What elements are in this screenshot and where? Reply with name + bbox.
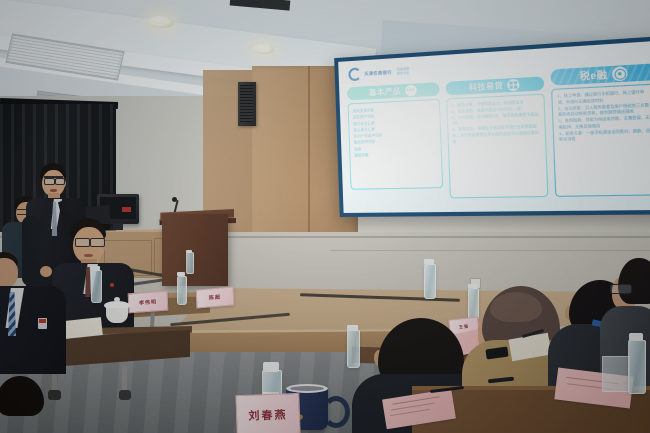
table-caster-wheel [48,390,61,400]
projection-screen-surface: 天津农商银行 科技金融 服务方案 基本产品 ••• [338,40,650,213]
conference-room-photo: 天津农商银行 科技金融 服务方案 基本产品 ••• [0,0,650,433]
eyeglasses-icon [75,238,90,247]
bottle-cap [91,266,100,271]
water-bottle [186,252,194,274]
monitor-stand [113,223,123,230]
eyeglasses-icon [610,284,632,294]
card-title: 科技易贷 [469,80,504,93]
card-header-basic-products: 基本产品 ••• [347,82,439,100]
namecard-text: 刘春燕 [248,406,288,423]
water-bottle [91,270,102,303]
card-body-basic-products: 流动资金贷款 固定资产贷款 银行承兑汇票 商业承兑汇票 知识产权质押贷款 股权质… [348,99,443,190]
bottle-cap [629,333,643,341]
wood-panel-seam [308,66,310,251]
teacup [106,308,128,323]
projection-screen: 天津农商银行 科技金融 服务方案 基本产品 ••• [334,35,650,217]
dots-glyph: ••• [406,87,414,94]
card-header-tax-e-financing: 税e融 [551,63,650,85]
bank-logo: 天津农商银行 科技金融 服务方案 [348,64,409,81]
lapel-pin [110,283,114,287]
wall-trim-line [330,250,650,251]
eyeglasses-icon [55,178,65,185]
namecard-foreground: 刘春燕 [235,393,300,433]
bank-logo-subtitle: 科技金融 服务方案 [397,67,410,75]
card-header-tech-easy-loan: 科技易贷 [445,76,544,95]
water-bottle [347,330,360,368]
hair-highlight [490,292,542,322]
slide-card-tax-e-financing: 税e融 1、线上申请：通过我行手机银行、网上银行申请，申请时无需纸质材料 2、自… [551,63,650,197]
hand [40,266,52,277]
grid-glyph [510,81,518,89]
dots-icon: ••• [405,85,417,97]
bank-logo-icon [348,67,361,81]
slide-cards: 基本产品 ••• 流动资金贷款 固定资产贷款 银行承兑汇票 商业承兑汇票 知识产… [347,70,650,206]
target-glyph [614,68,626,80]
water-bottle [424,264,436,299]
bottle-cap [177,272,185,276]
target-icon [612,66,628,81]
monitor-indicator [122,207,131,212]
water-bottle [468,288,479,320]
eyeglasses-icon [44,178,55,185]
id-badge-stripe [39,319,46,323]
list-item: 银保贷融 [354,150,436,159]
namecard-text: 李伟明 [139,298,157,306]
slide-card-tech-easy-loan: 科技易贷 1、服务对象：专精特新企业、科创型企业 2、授信金额：最高不超过100… [445,76,549,198]
bank-logo-name: 天津农商银行 [364,69,392,77]
mouth [84,254,93,257]
bottle-cap [186,250,192,253]
water-bottle [628,340,646,394]
bottle-cap [424,259,434,264]
card-title: 税e融 [579,67,608,83]
namecard-3: 陈超 [196,286,235,308]
card-title: 基本产品 [369,85,401,98]
table-caster-wheel [119,390,131,400]
drinking-glass [602,356,630,392]
namecard-text: 陈超 [209,293,221,301]
presentation-slide: 天津农商银行 科技金融 服务方案 基本产品 ••• [338,40,650,213]
bottle-cap [263,362,279,372]
bottle-cap [468,284,477,288]
bank-logo-sub-line-2: 服务方案 [397,71,409,76]
eyeglasses-icon [90,238,105,247]
mouth [50,189,57,192]
slide-card-basic-products: 基本产品 ••• 流动资金贷款 固定资产贷款 银行承兑汇票 商业承兑汇票 知识产… [347,82,443,190]
bottle-cap [347,325,358,331]
namecard-text: 王强 [459,323,470,330]
paragraph: 4、审批定价：根据企业情况给予同行业同类型定价，对于有政策性业务补贴的企业可以适… [452,124,541,145]
grid-icon [507,79,520,91]
speaker-grille [240,85,253,122]
arm [22,216,41,286]
teacup-lid-knob [114,297,120,302]
card-body-tech-easy-loan: 1、服务对象：专精特新企业、科创型企业 2、授信金额：最高不超过1000万元（含… [446,94,549,199]
namecard-2: 李伟明 [128,291,169,314]
podium [162,214,228,286]
water-bottle [177,276,187,305]
mug-interior [290,386,324,391]
card-body-tax-e-financing: 1、线上申请：通过我行手机银行、网上银行申请，申请时无需纸质材料 2、自动审批：… [551,83,650,197]
